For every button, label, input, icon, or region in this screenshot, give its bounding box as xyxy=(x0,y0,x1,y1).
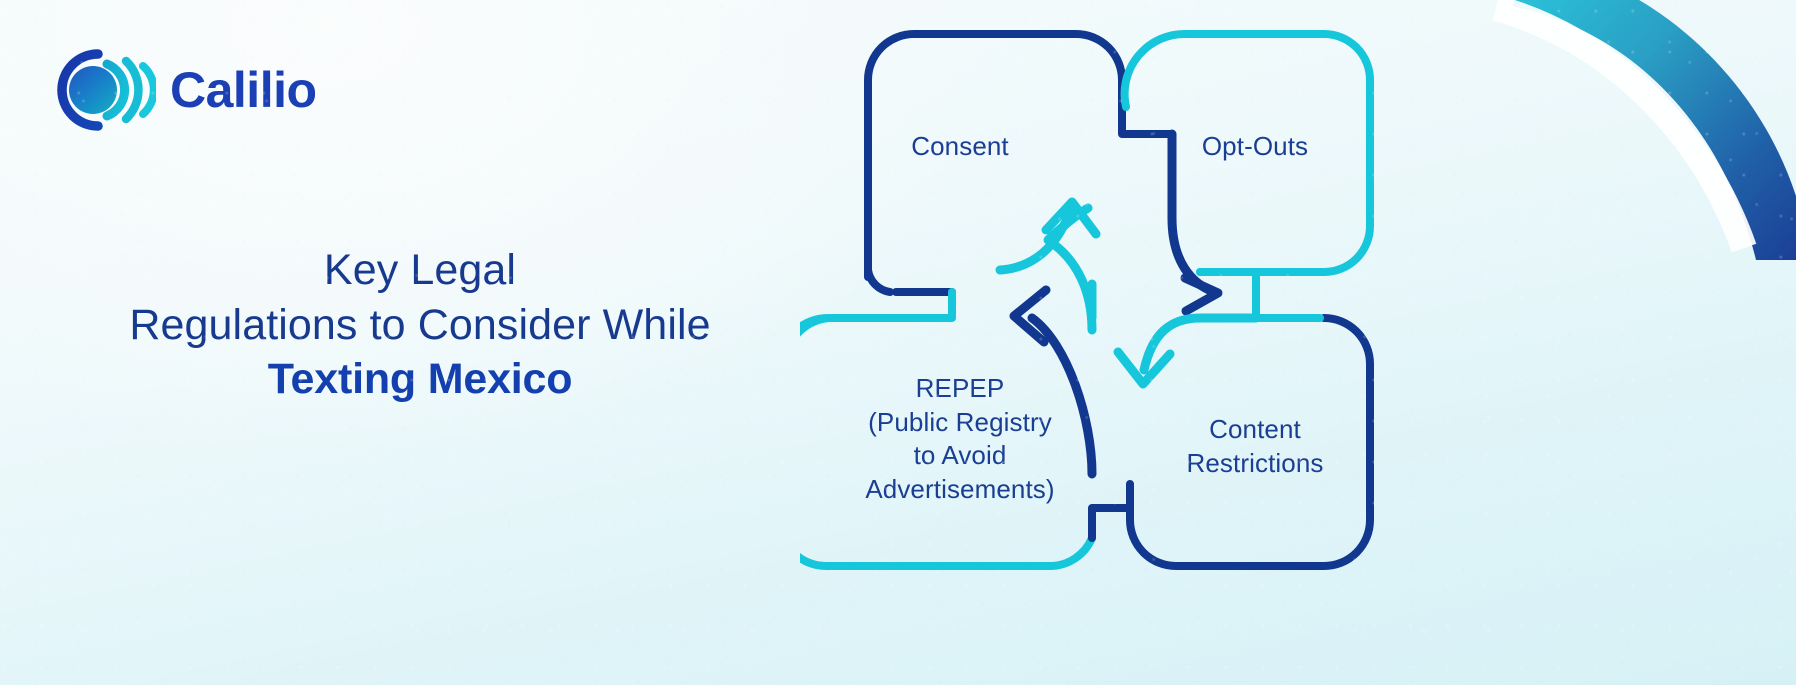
repep-line-4: Advertisements) xyxy=(865,474,1054,504)
content-line-1: Content xyxy=(1209,414,1301,444)
headline-line-1: Key Legal xyxy=(324,246,516,294)
node-label-repep: REPEP (Public Registry to Avoid Advertis… xyxy=(820,372,1100,506)
node-label-opt-outs: Opt-Outs xyxy=(1130,130,1380,164)
banner-canvas: Calilio Key Legal Regulations to Conside… xyxy=(0,0,1796,685)
diagram-shapes xyxy=(800,0,1420,685)
node-consent-border-corner xyxy=(868,270,890,292)
node-label-consent: Consent xyxy=(835,130,1085,164)
cycle-diagram: Consent Opt-Outs REPEP (Public Registry … xyxy=(800,0,1420,685)
corner-swoosh-decoration xyxy=(1456,0,1796,260)
node-repep-border-step xyxy=(800,292,952,364)
content-line-2: Restrictions xyxy=(1186,448,1323,478)
calilio-signal-circle-icon xyxy=(52,48,156,132)
headline-line-2: Regulations to Consider While xyxy=(129,301,710,349)
repep-line-2: (Public Registry xyxy=(868,407,1052,437)
brand-name: Calilio xyxy=(170,61,317,119)
headline-line-3: Texting Mexico xyxy=(60,352,780,407)
repep-line-1: REPEP xyxy=(916,373,1005,403)
node-label-content-restrictions: Content Restrictions xyxy=(1130,413,1380,480)
page-title: Key Legal Regulations to Consider While … xyxy=(60,243,780,407)
brand-logo[interactable]: Calilio xyxy=(52,48,317,132)
arrowhead-consent-to-optouts xyxy=(1185,278,1218,311)
connector-repep-to-consent xyxy=(1056,246,1092,330)
repep-line-3: to Avoid xyxy=(914,440,1007,470)
